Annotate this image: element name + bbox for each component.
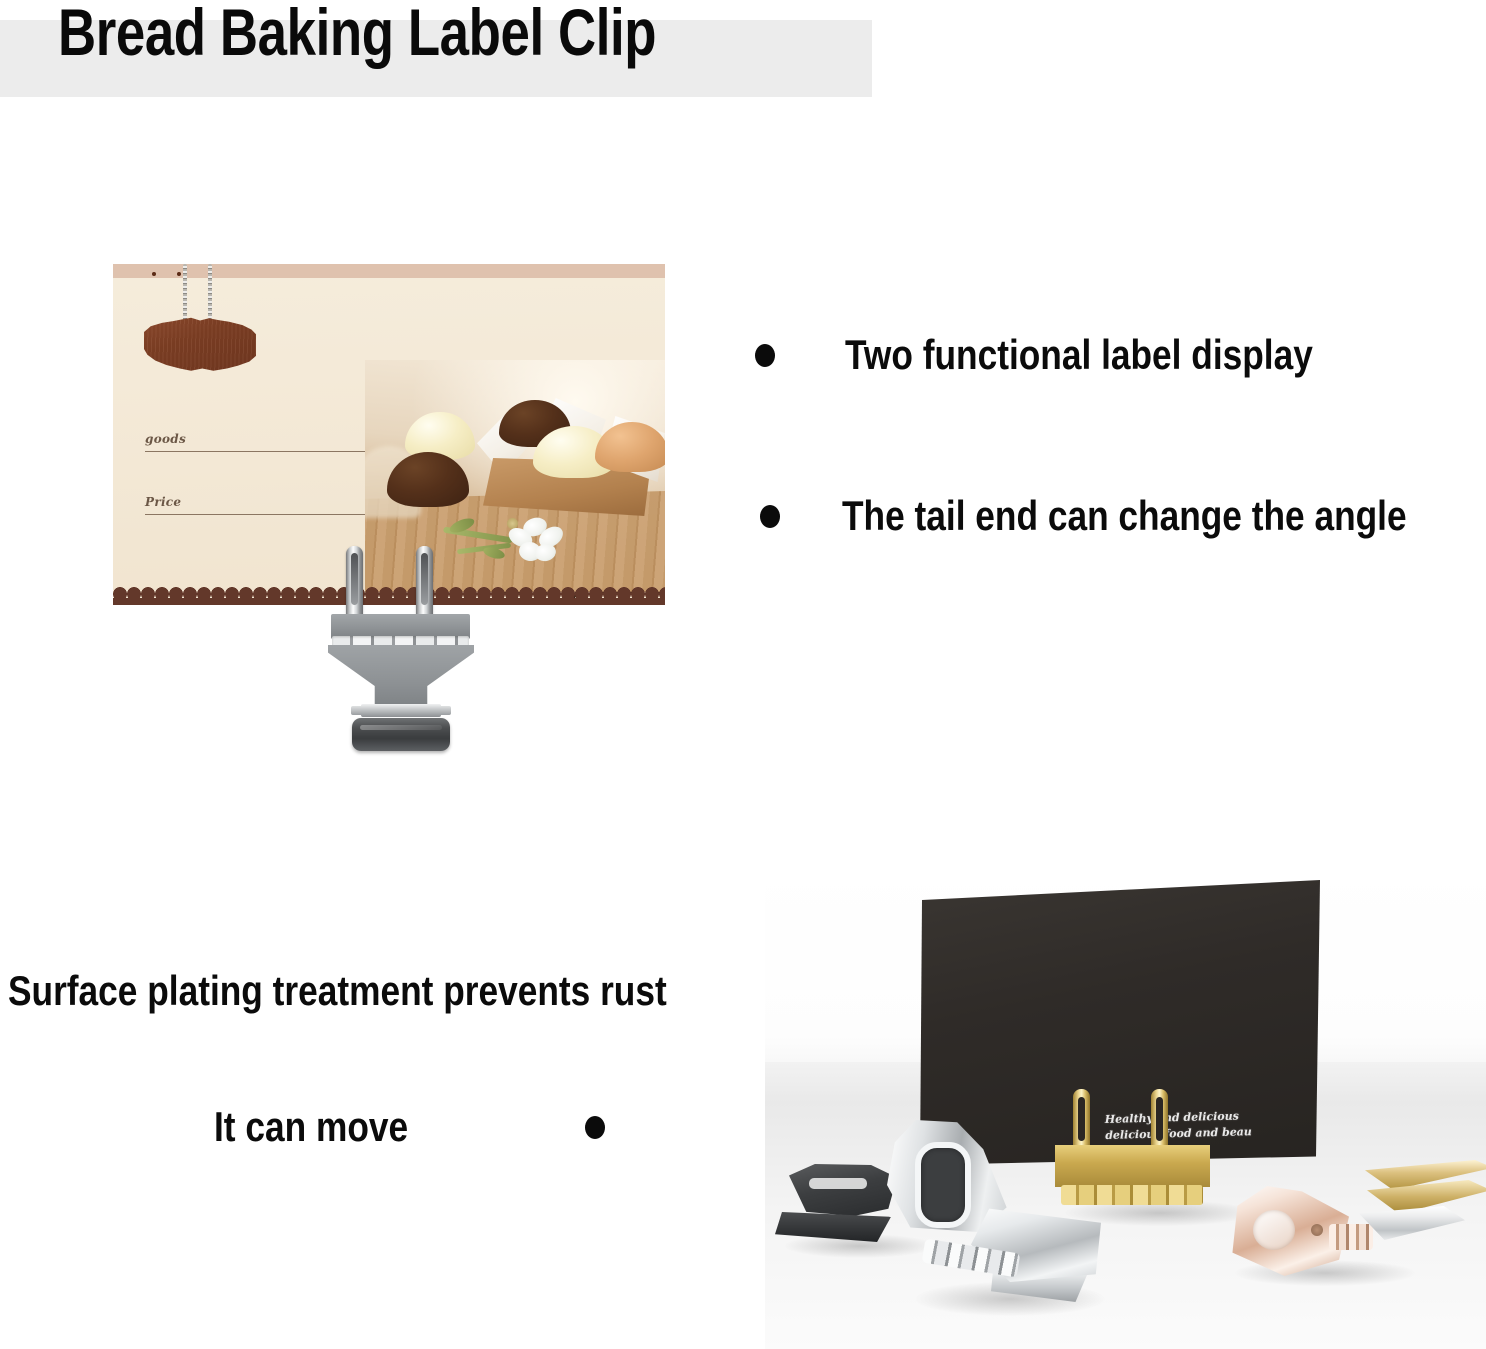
feature-label: The tail end can change the angle	[842, 493, 1407, 539]
product-photo: Healthy and delicious delicious food and…	[765, 862, 1486, 1349]
feature-label: Two functional label display	[845, 332, 1313, 378]
plaque-pin-left-icon	[152, 272, 156, 276]
black-clip-slot	[809, 1178, 867, 1189]
feature-item-tail-end-change-angle: The tail end can change the angle	[760, 493, 1486, 539]
orchid-flower	[507, 518, 567, 568]
bead-chain-right-icon	[208, 264, 212, 319]
bullet-dot-icon	[585, 1116, 605, 1139]
cupcake-caramel-right	[599, 422, 665, 502]
bullet-dot-icon	[755, 344, 775, 367]
stand-clip-jaw	[352, 718, 450, 751]
gold-arm-lower	[1359, 1206, 1465, 1240]
feature-item-it-can-move: It can move	[214, 1104, 605, 1150]
card-top-strip	[113, 264, 665, 278]
gold-prong-right	[1151, 1089, 1168, 1151]
silver-clip-loop	[915, 1142, 971, 1228]
stand-body	[328, 645, 474, 709]
plaque-pin-right-icon	[177, 272, 181, 276]
page-title: Bread Baking Label Clip	[58, 0, 656, 68]
clip-silver-finish	[871, 1120, 1111, 1320]
stand-prong-left	[346, 546, 363, 622]
bullet-dot-icon	[760, 505, 780, 528]
cupcake-frosting	[595, 422, 665, 472]
bead-chain-left-icon	[183, 264, 187, 321]
rose-clip-screw	[1311, 1224, 1323, 1236]
stand-neck	[361, 704, 441, 717]
feature-item-surface-plating-prevents-rust: Surface plating treatment prevents rust	[8, 968, 848, 1014]
feature-label: Surface plating treatment prevents rust	[8, 968, 667, 1014]
rose-clip-hole	[1253, 1210, 1295, 1250]
cupcake-frosting	[387, 452, 470, 507]
feature-label: It can move	[214, 1104, 408, 1150]
clip-gold-arm	[1365, 1154, 1486, 1264]
metal-clip-stand	[328, 546, 474, 751]
feature-item-two-functional-label-display: Two functional label display	[755, 332, 1402, 378]
stand-prong-right	[416, 546, 433, 622]
